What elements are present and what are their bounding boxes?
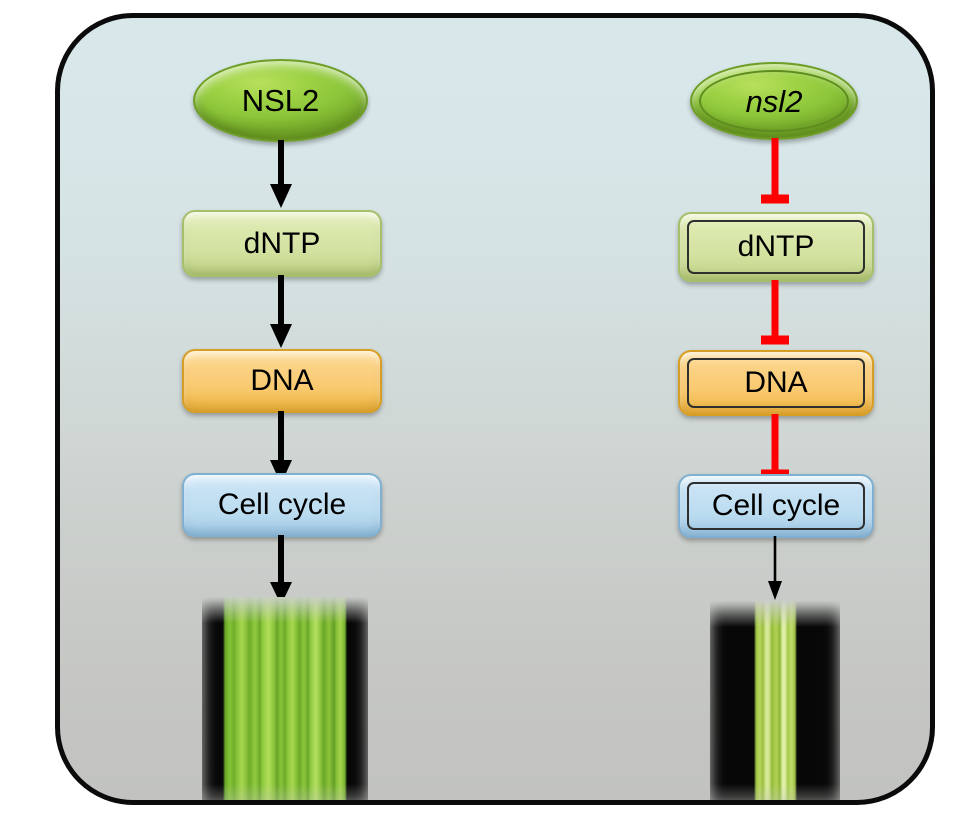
connector-gene-to-dntp-mutant xyxy=(759,138,791,206)
leaf xyxy=(755,601,764,805)
node-dntp-wildtype: dNTP xyxy=(182,210,382,277)
pathway-column-wildtype: NSL2 dNTP DNA Cell c xyxy=(60,18,500,800)
node-label: DNA xyxy=(250,366,313,396)
leaf xyxy=(781,601,787,805)
leaf-bundle-wildtype xyxy=(224,597,346,805)
leaf xyxy=(261,597,276,805)
node-gene-mutant: nsl2 xyxy=(690,62,858,140)
node-label: DNA xyxy=(744,368,807,398)
node-dna-wildtype: DNA xyxy=(182,349,382,413)
node-label: dNTP xyxy=(244,229,321,259)
leaf xyxy=(224,597,235,805)
node-gene-wildtype: NSL2 xyxy=(193,59,368,142)
node-dna-mutant: DNA xyxy=(678,350,874,416)
photo-fade-bottom xyxy=(710,784,840,805)
connector-dntp-to-dna-mutant xyxy=(759,280,791,348)
photo-fade-top xyxy=(202,597,368,623)
leaf xyxy=(771,601,781,805)
node-label: Cell cycle xyxy=(218,490,346,520)
node-dntp-mutant: dNTP xyxy=(678,212,874,282)
leaf xyxy=(235,597,249,805)
leaf xyxy=(276,597,287,805)
node-cell-cycle-mutant: Cell cycle xyxy=(678,474,874,538)
node-cell-cycle-wildtype: Cell cycle xyxy=(182,473,382,537)
node-label: dNTP xyxy=(738,232,815,262)
plant-photo-mutant xyxy=(710,601,840,805)
connector-dna-to-cell-cycle-mutant xyxy=(759,414,791,482)
node-label: nsl2 xyxy=(746,86,803,117)
leaf xyxy=(299,597,309,805)
node-label: NSL2 xyxy=(242,85,320,116)
figure-panel: NSL2 dNTP DNA Cell c xyxy=(55,13,935,805)
photo-fade-top xyxy=(710,601,840,627)
leaf xyxy=(764,601,771,805)
pathway-column-mutant: nsl2 dNTP DNA xyxy=(500,18,935,800)
node-label: Cell cycle xyxy=(712,491,840,521)
leaf xyxy=(309,597,323,805)
leaf xyxy=(249,597,261,805)
photo-fade-bottom xyxy=(202,784,368,805)
leaf xyxy=(323,597,335,805)
leaf xyxy=(335,597,346,805)
leaf-bundle-mutant xyxy=(752,601,798,805)
connector-cell-cycle-to-plant-mutant xyxy=(762,536,788,602)
connector-dntp-to-dna-wildtype xyxy=(266,275,296,350)
leaf xyxy=(286,597,299,805)
leaf xyxy=(787,601,796,805)
plant-photo-wildtype xyxy=(202,597,368,805)
connector-gene-to-dntp-wildtype xyxy=(266,140,296,210)
